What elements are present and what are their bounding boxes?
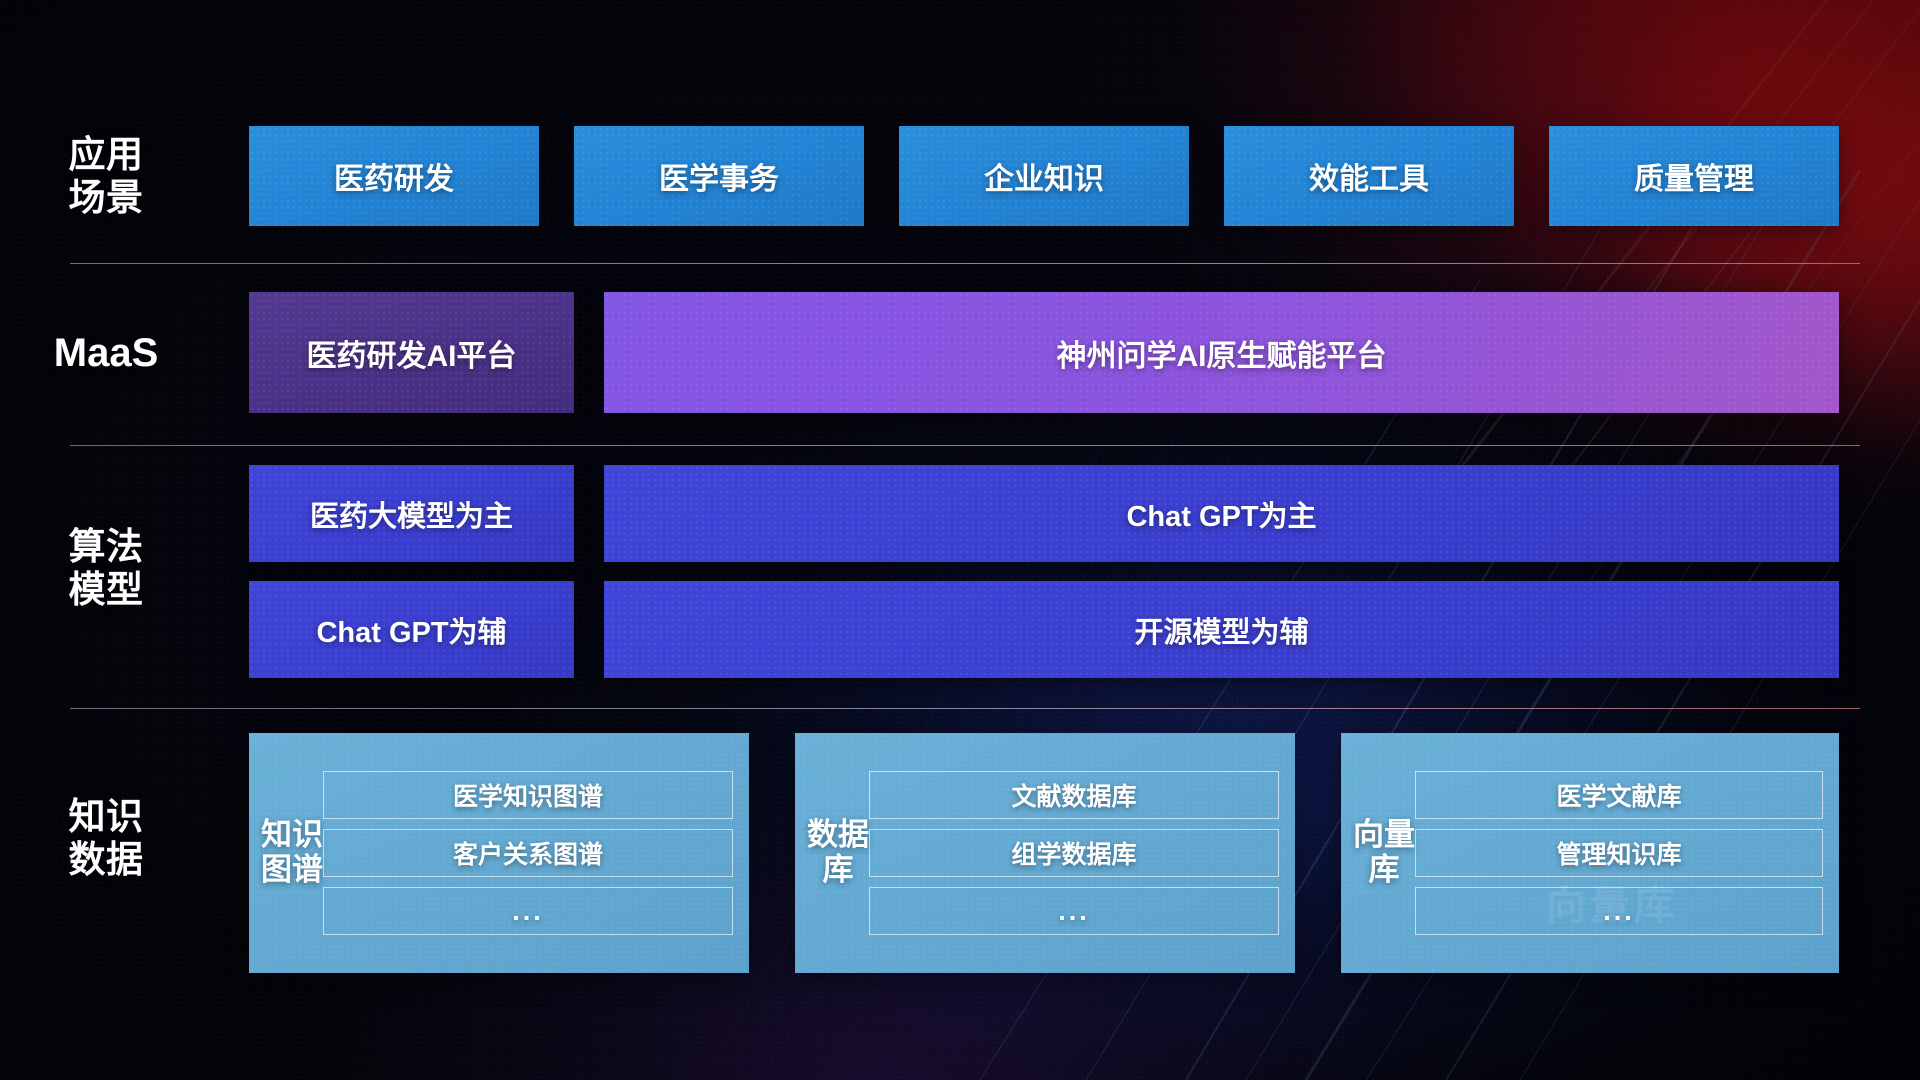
divider-maas-algorithm: [70, 445, 1860, 446]
app-box-2[interactable]: 企业知识: [899, 126, 1189, 226]
app-box-4[interactable]: 质量管理: [1549, 126, 1839, 226]
row-label-knowledge-line2: 数据: [0, 839, 212, 882]
app-box-3[interactable]: 效能工具: [1224, 126, 1514, 226]
row-label-algorithm-line1: 算法: [0, 526, 212, 569]
knowledge-group-1[interactable]: 数据库 文献数据库 组学数据库 ...: [795, 733, 1295, 973]
knowledge-group-2-item-0[interactable]: 医学文献库: [1415, 771, 1823, 819]
app-box-0-label: 医药研发: [334, 154, 454, 198]
architecture-diagram: 应用 场景 医药研发 医学事务 企业知识 效能工具 质量管理: [0, 0, 1920, 1080]
row-algorithm: 算法 模型 医药大模型为主 Chat GPT为主 Chat GPT为辅 开源模型…: [0, 465, 1920, 697]
algo-right-box-0-label: Chat GPT为主: [1126, 493, 1316, 535]
algo-left-box-0-label: 医药大模型为主: [310, 493, 513, 535]
divider-algorithm-knowledge: [70, 708, 1860, 709]
app-box-1[interactable]: 医学事务: [574, 126, 864, 226]
knowledge-group-0-item-0-label: 医学知识图谱: [453, 777, 603, 813]
knowledge-group-0[interactable]: 知识图谱 医学知识图谱 客户关系图谱 ...: [249, 733, 749, 973]
knowledge-group-0-item-1[interactable]: 客户关系图谱: [323, 829, 733, 877]
row-application: 应用 场景 医药研发 医学事务 企业知识 效能工具 质量管理: [0, 126, 1920, 226]
knowledge-group-0-item-1-label: 客户关系图谱: [453, 835, 603, 871]
app-box-1-label: 医学事务: [659, 154, 779, 198]
maas-right-box[interactable]: 神州问学AI原生赋能平台: [604, 292, 1839, 413]
maas-right-label: 神州问学AI原生赋能平台: [1057, 331, 1387, 375]
knowledge-group-1-item-2-label: ...: [1058, 896, 1090, 927]
app-box-3-label: 效能工具: [1309, 154, 1429, 198]
algo-left-box-0[interactable]: 医药大模型为主: [249, 465, 574, 562]
knowledge-group-0-item-2[interactable]: ...: [323, 887, 733, 935]
knowledge-group-2-item-0-label: 医学文献库: [1556, 777, 1681, 813]
app-box-4-label: 质量管理: [1634, 154, 1754, 198]
knowledge-group-1-item-0-label: 文献数据库: [1011, 777, 1136, 813]
row-label-maas: MaaS: [0, 330, 212, 376]
row-label-application-line2: 场景: [0, 177, 212, 220]
knowledge-group-1-item-1[interactable]: 组学数据库: [869, 829, 1279, 877]
knowledge-group-1-vertical-label: 数据库: [807, 818, 869, 887]
knowledge-group-0-item-0[interactable]: 医学知识图谱: [323, 771, 733, 819]
algo-right-box-1-label: 开源模型为辅: [1134, 609, 1308, 651]
knowledge-group-0-vertical-label: 知识图谱: [261, 818, 323, 887]
maas-left-label: 医药研发AI平台: [307, 331, 517, 375]
row-label-knowledge-line1: 知识: [0, 796, 212, 839]
algo-right-box-0[interactable]: Chat GPT为主: [604, 465, 1839, 562]
knowledge-group-0-item-2-label: ...: [512, 896, 544, 927]
knowledge-group-2-item-2-label: ...: [1603, 896, 1635, 927]
knowledge-group-1-item-0[interactable]: 文献数据库: [869, 771, 1279, 819]
algo-left-box-1-label: Chat GPT为辅: [316, 609, 506, 651]
app-box-0[interactable]: 医药研发: [249, 126, 539, 226]
row-label-application-line1: 应用: [0, 134, 212, 177]
row-knowledge: 知识 数据 知识图谱 医学知识图谱 客户关系图谱 ...: [0, 733, 1920, 973]
knowledge-group-2-item-1-label: 管理知识库: [1556, 835, 1681, 871]
knowledge-group-2-item-1[interactable]: 管理知识库: [1415, 829, 1823, 877]
knowledge-group-1-item-2[interactable]: ...: [869, 887, 1279, 935]
row-maas: MaaS 医药研发AI平台 神州问学AI原生赋能平台: [0, 292, 1920, 413]
row-label-algorithm-line2: 模型: [0, 569, 212, 612]
knowledge-group-1-item-1-label: 组学数据库: [1011, 835, 1136, 871]
divider-application-maas: [70, 263, 1860, 264]
maas-left-box[interactable]: 医药研发AI平台: [249, 292, 574, 413]
knowledge-group-2[interactable]: 向量库 向量库 医学文献库 管理知识库 ...: [1341, 733, 1839, 973]
knowledge-group-2-vertical-label: 向量库: [1353, 818, 1415, 887]
app-box-2-label: 企业知识: [984, 154, 1104, 198]
knowledge-group-2-item-2[interactable]: ...: [1415, 887, 1823, 935]
algo-right-box-1[interactable]: 开源模型为辅: [604, 581, 1839, 678]
algo-left-box-1[interactable]: Chat GPT为辅: [249, 581, 574, 678]
